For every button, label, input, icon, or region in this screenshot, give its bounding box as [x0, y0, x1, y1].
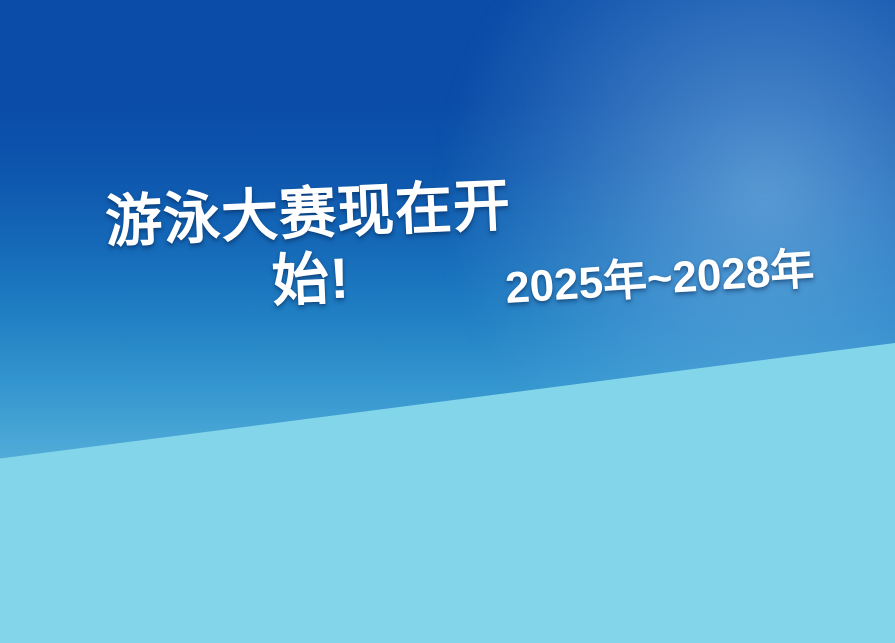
poster-headline: 游泳大赛现在开始!	[72, 172, 547, 323]
headline-layer: 游泳大赛现在开始! 2025年~2028年	[0, 0, 895, 643]
poster-slide: 游泳大赛现在开始! 2025年~2028年	[0, 0, 895, 643]
poster-date-range: 2025年~2028年	[503, 233, 816, 316]
